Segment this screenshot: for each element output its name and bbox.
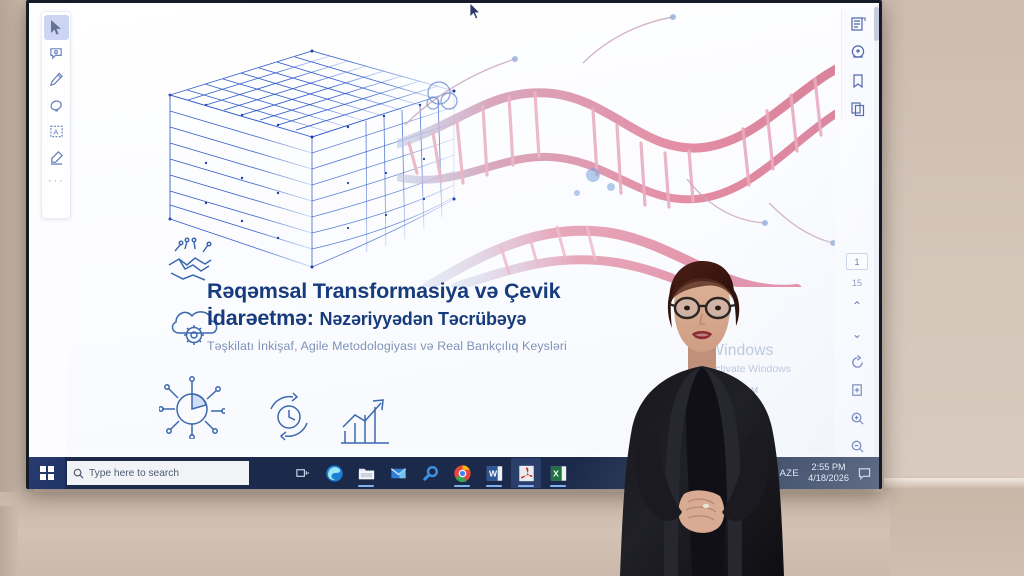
select-cursor-tool[interactable] (44, 15, 69, 40)
gear-icon (421, 464, 440, 483)
word-icon: W (485, 464, 504, 483)
stamp-icon[interactable] (847, 43, 869, 63)
svg-text:X: X (553, 468, 559, 478)
taskbar-app-list: W X (287, 458, 573, 488)
search-placeholder-label: Type here to search (89, 468, 179, 479)
network-pie-chart-icon (159, 371, 225, 439)
vertical-scrollbar-track[interactable] (874, 5, 879, 487)
annotation-toolbar: A ··· (41, 11, 71, 219)
taskbar-app-settings[interactable] (415, 458, 445, 488)
wall-right (884, 0, 1024, 486)
copy-pages-icon[interactable] (847, 100, 869, 120)
highlighter-tool[interactable] (44, 145, 69, 170)
dna-double-helix-graphic (397, 3, 835, 287)
page-navigation-rail: 1 15 ⌃ ⌄ (841, 253, 873, 456)
clock-time: 2:55 PM (808, 462, 849, 473)
start-button[interactable] (29, 457, 65, 489)
search-icon (73, 468, 84, 479)
clock-date: 4/18/2026 (808, 473, 849, 484)
cycle-clock-icon (263, 391, 315, 441)
text-select-tool[interactable]: A (44, 119, 69, 144)
lower-wall-right (884, 490, 1024, 576)
fit-page-icon[interactable] (847, 380, 867, 400)
presenter-person (612, 258, 812, 576)
svg-text:W: W (488, 468, 497, 478)
lasso-tool[interactable] (44, 93, 69, 118)
taskbar-app-mail[interactable] (383, 458, 413, 488)
taskbar-app-file-explorer[interactable] (351, 458, 381, 488)
acrobat-icon (517, 464, 536, 483)
add-note-icon[interactable] (847, 14, 869, 34)
rotate-page-icon[interactable] (847, 352, 867, 372)
notification-icon[interactable] (858, 467, 871, 480)
folder-icon (357, 464, 376, 483)
mail-icon (389, 464, 408, 483)
taskbar-app-edge[interactable] (319, 458, 349, 488)
excel-icon: X (549, 464, 568, 483)
svg-text:A: A (53, 127, 58, 136)
vertical-scrollbar-thumb[interactable] (874, 7, 879, 41)
bookmark-icon[interactable] (847, 71, 869, 91)
pen-tool[interactable] (44, 67, 69, 92)
taskbar-app-chrome[interactable] (447, 458, 477, 488)
next-page-button[interactable]: ⌄ (847, 324, 867, 344)
zoom-in-icon[interactable] (847, 408, 867, 428)
search-input[interactable]: Type here to search (67, 461, 249, 485)
chrome-icon (453, 464, 472, 483)
slide-title-line2-bold: İdarəetmə: (207, 306, 314, 330)
mouse-cursor (469, 3, 481, 21)
taskbar-app-excel[interactable]: X (543, 458, 573, 488)
wall-ledge (884, 478, 1024, 490)
left-foreground-object (0, 506, 18, 576)
comment-tool[interactable] (44, 41, 69, 66)
growth-chart-icon (339, 395, 399, 449)
right-panel-rail (841, 9, 873, 119)
more-tools-button[interactable]: ··· (44, 171, 69, 189)
taskbar-app-word[interactable]: W (479, 458, 509, 488)
slide-title-line2-rest: Nəzəriyyədən Təcrübəyə (320, 309, 527, 329)
current-page-input[interactable]: 1 (846, 253, 868, 270)
clock[interactable]: 2:55 PM 4/18/2026 (808, 462, 849, 484)
edge-icon (325, 464, 344, 483)
total-pages-label: 15 (852, 278, 862, 288)
task-view-button[interactable] (287, 458, 317, 488)
windows-logo-icon (40, 466, 54, 480)
handshake-circuit-icon (163, 235, 217, 283)
taskbar-app-acrobat[interactable] (511, 458, 541, 488)
previous-page-button[interactable]: ⌃ (847, 296, 867, 316)
zoom-out-icon[interactable] (847, 436, 867, 456)
